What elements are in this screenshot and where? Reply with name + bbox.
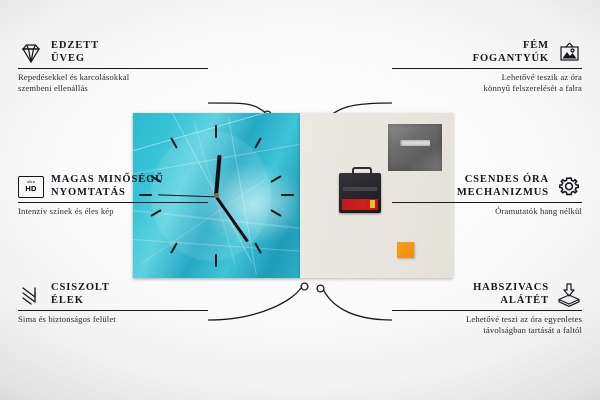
polished-edge-icon: [18, 283, 44, 307]
divider: [392, 202, 582, 203]
feature-subtitle: Lehetővé teszik az óra: [392, 72, 582, 83]
divider: [392, 310, 582, 311]
feature-title: CSENDES ÓRA: [457, 174, 549, 187]
arrow-onto-pad-icon: [556, 283, 582, 307]
feature-subtitle: Lehetővé teszi az óra egyenletes: [392, 314, 582, 325]
feature-title-2: ALÁTÉT: [473, 295, 549, 308]
infographic-canvas: EDZETT ÜVEG Repedésekkel és karcolásokka…: [0, 0, 600, 400]
connector-edge: [208, 285, 303, 320]
metal-hanger-plate: [388, 124, 442, 171]
gear-icon: [556, 175, 582, 199]
feature-subtitle: Intenzív színek és éles kép: [18, 206, 208, 217]
feature-subtitle-2: távolságban tartását a faltól: [392, 325, 582, 336]
hour-hand: [214, 155, 222, 196]
feature-subtitle: Repedésekkel és karcolásokkal: [18, 72, 208, 83]
feature-title: EDZETT: [51, 40, 99, 53]
picture-frame-hook-icon: [556, 41, 582, 65]
feature-print: ultraHD MAGAS MINŐSÉGŰ NYOMTATÁS Intenzí…: [18, 174, 208, 217]
divider: [392, 68, 582, 69]
feature-subtitle-2: szembeni ellenállás: [18, 83, 208, 94]
feature-title-2: ÜVEG: [51, 53, 99, 66]
quartz-clock-mechanism: [339, 173, 381, 213]
feature-mechanism: CSENDES ÓRA MECHANIZMUS Óramutatók hang …: [392, 174, 582, 217]
feature-title-2: ÉLEK: [51, 295, 110, 308]
endpoint-edge: [301, 283, 308, 290]
feature-title-2: MECHANIZMUS: [457, 187, 549, 200]
feature-edge: CSISZOLT ÉLEK Sima és biztonságos felüle…: [18, 282, 208, 325]
diamond-icon: [18, 41, 44, 65]
feature-title: FÉM: [473, 40, 549, 53]
endpoint-foam: [317, 285, 324, 292]
foam-rubber-pad: [397, 242, 414, 258]
feature-title: CSISZOLT: [51, 282, 110, 295]
divider: [18, 310, 208, 311]
feature-foam: HABSZIVACS ALÁTÉT Lehetővé teszi az óra …: [392, 282, 582, 336]
feature-subtitle-2: könnyű felszerelését a falra: [392, 83, 582, 94]
feature-handle: FÉM FOGANTYÚK Lehetővé teszik az óra kön…: [392, 40, 582, 94]
feature-title: HABSZIVACS: [473, 282, 549, 295]
divider: [18, 68, 208, 69]
minute-hand: [215, 196, 249, 243]
feature-title-2: NYOMTATÁS: [51, 187, 164, 200]
feature-glass: EDZETT ÜVEG Repedésekkel és karcolásokka…: [18, 40, 208, 94]
feature-title-2: FOGANTYÚK: [473, 53, 549, 66]
ultra-hd-badge-icon: ultraHD: [18, 175, 44, 199]
connector-glass: [208, 103, 266, 113]
connector-foam: [322, 287, 392, 320]
divider: [18, 202, 208, 203]
feature-subtitle: Óramutatók hang nélkül: [392, 206, 582, 217]
feature-title: MAGAS MINŐSÉGŰ: [51, 174, 164, 187]
clock-center-pin: [214, 193, 219, 198]
feature-subtitle: Sima és biztonságos felület: [18, 314, 208, 325]
